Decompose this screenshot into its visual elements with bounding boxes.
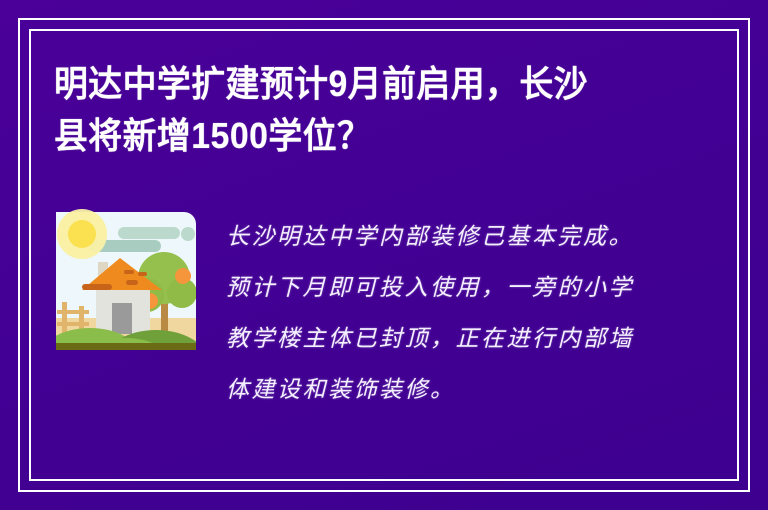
illustration-svg (52, 200, 200, 358)
body-paragraph: 长沙明达中学内部装修己基本完成。预计下月即可投入使用，一旁的小学教学楼主体已封顶… (226, 212, 656, 416)
sun-core-overflow-icon (68, 220, 96, 248)
roof-tile-3 (124, 270, 134, 274)
tree-fruit-upper (175, 268, 191, 284)
house-door (112, 303, 132, 334)
cloud-icon-small (181, 227, 195, 241)
roof-tile-4 (138, 272, 147, 276)
content-row: 长沙明达中学内部装修己基本完成。预计下月即可投入使用，一旁的小学教学楼主体已封顶… (52, 200, 714, 460)
fence-rail-lower (57, 322, 89, 326)
cloud-icon-upper (118, 227, 180, 239)
ground-strip (56, 343, 196, 350)
roof-tile-2 (126, 280, 138, 285)
page-title: 明达中学扩建预计9月前启用，长沙县将新增1500学位？ (54, 58, 618, 162)
poster-canvas: 明达中学扩建预计9月前启用，长沙县将新增1500学位？ (0, 0, 768, 510)
house-landscape-illustration (52, 200, 200, 358)
fence-rail-upper (57, 310, 89, 314)
roof-tile-1 (82, 284, 112, 290)
